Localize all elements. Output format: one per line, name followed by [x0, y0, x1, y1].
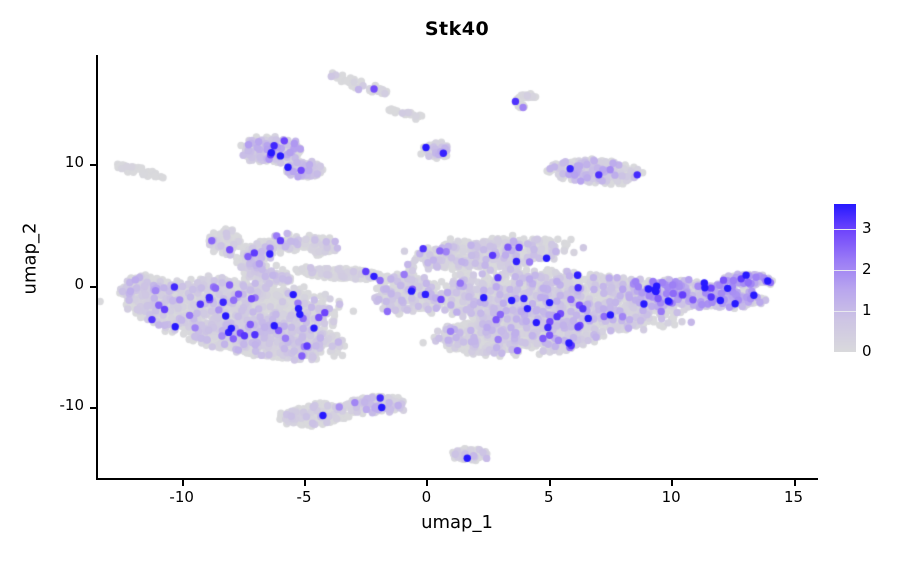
y-tick-mark: [90, 407, 96, 409]
figure-canvas: Stk40 -10-5051015 100-10 umap_1 umap_2 3…: [0, 0, 911, 562]
colorbar-tick-mark: [834, 270, 856, 271]
colorbar-gradient-bar: [834, 204, 856, 352]
colorbar-tick-label: 2: [862, 260, 902, 278]
colorbar-tick-mark: [834, 311, 856, 312]
plot-axes-area: [96, 55, 818, 480]
y-tick-label: -10: [20, 396, 84, 414]
x-tick-mark: [549, 480, 551, 486]
colorbar-tick-mark: [834, 229, 856, 230]
x-tick-label: 15: [764, 488, 824, 506]
x-axis-label: umap_1: [96, 512, 818, 533]
x-tick-label: 5: [519, 488, 579, 506]
x-tick-label: -5: [274, 488, 334, 506]
colorbar-tick-label: 1: [862, 301, 902, 319]
x-tick-mark: [182, 480, 184, 486]
scatter-plot-canvas: [98, 55, 820, 480]
x-tick-mark: [794, 480, 796, 486]
colorbar: 3210: [834, 204, 906, 356]
x-tick-label: -10: [152, 488, 212, 506]
colorbar-tick-label: 0: [862, 342, 902, 360]
x-tick-mark: [671, 480, 673, 486]
page-title: Stk40: [96, 18, 818, 40]
y-tick-mark: [90, 286, 96, 288]
colorbar-tick-label: 3: [862, 219, 902, 237]
x-tick-label: 10: [641, 488, 701, 506]
y-tick-mark: [90, 164, 96, 166]
y-axis-label: umap_2: [20, 139, 41, 379]
x-tick-mark: [426, 480, 428, 486]
x-tick-mark: [304, 480, 306, 486]
x-tick-label: 0: [396, 488, 456, 506]
